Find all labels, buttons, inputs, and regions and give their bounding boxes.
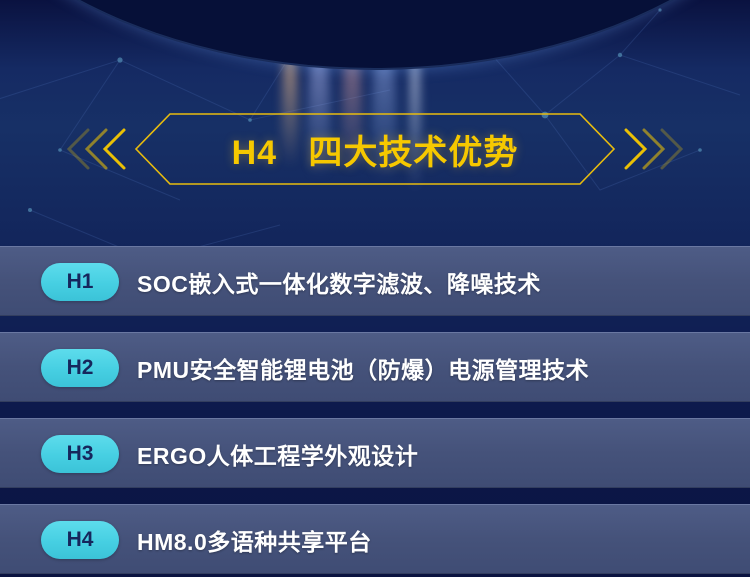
list-item-label: SOC嵌入式一体化数字滤波、降噪技术 (137, 265, 541, 299)
status-badge: H3 (41, 435, 119, 473)
list-item[interactable]: H4 HM8.0多语种共享平台 (0, 504, 750, 574)
slide-root: H4 四大技术优势 H1 SOC嵌入式一体化数字滤波、降噪技术 H2 PMU安全… (0, 0, 750, 577)
list-item-label: HM8.0多语种共享平台 (137, 523, 372, 557)
status-badge: H2 (41, 349, 119, 387)
list-item[interactable]: H1 SOC嵌入式一体化数字滤波、降噪技术 (0, 246, 750, 316)
list-item[interactable]: H3 ERGO人体工程学外观设计 (0, 418, 750, 488)
feature-list: H1 SOC嵌入式一体化数字滤波、降噪技术 H2 PMU安全智能锂电池（防爆）电… (0, 246, 750, 574)
list-item[interactable]: H2 PMU安全智能锂电池（防爆）电源管理技术 (0, 332, 750, 402)
status-badge: H4 (41, 521, 119, 559)
status-badge: H1 (41, 263, 119, 301)
list-item-label: PMU安全智能锂电池（防爆）电源管理技术 (137, 351, 589, 385)
title-banner: H4 四大技术优势 (0, 108, 750, 190)
list-item-label: ERGO人体工程学外观设计 (137, 437, 418, 471)
page-title: H4 四大技术优势 (0, 108, 750, 190)
